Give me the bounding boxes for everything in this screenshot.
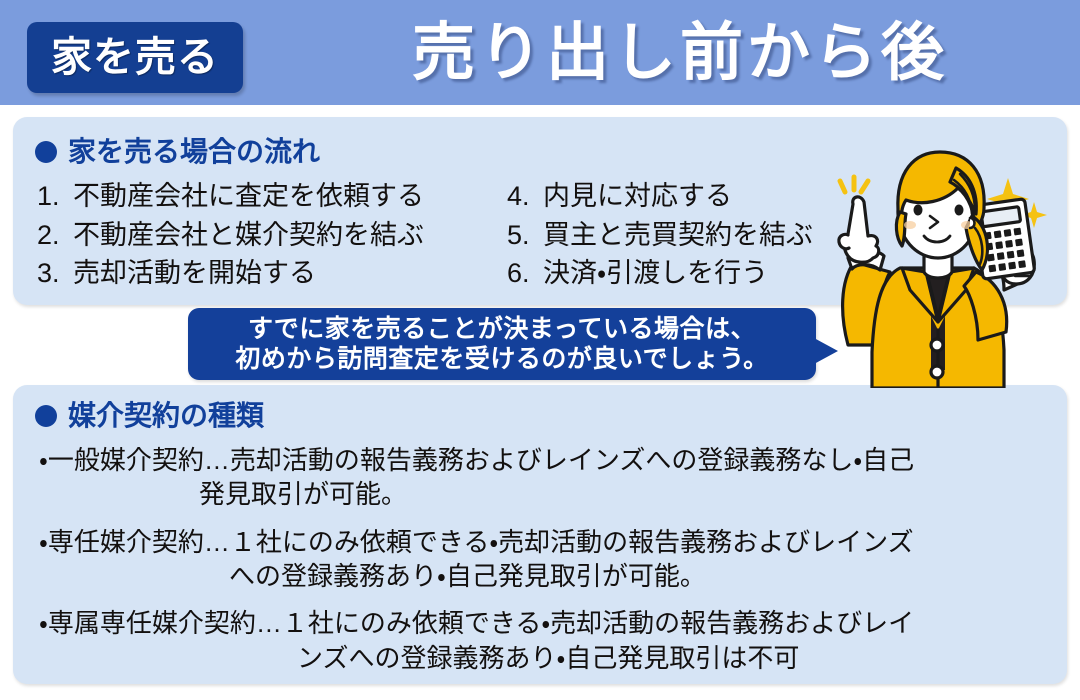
flow-step-6-number: 6. xyxy=(507,256,543,291)
bullet-dot-icon xyxy=(35,141,57,163)
contract-item-general: ・一般媒介契約…売却活動の報告義務およびレインズへの登録義務なし・自己 発見取引… xyxy=(39,443,1051,512)
contract-item-exclusive-right-line-1: １社にのみ依頼できる・売却活動の報告義務およびレイ xyxy=(282,608,914,638)
flow-steps-right-column: 4. 内見に対応する 5. 買主と売買契約を結ぶ 6. 決済・引渡しを行う xyxy=(507,179,837,291)
flow-step-3-label: 売却活動を開始する xyxy=(73,256,316,291)
category-badge: 家を売る xyxy=(27,22,243,93)
flow-steps-columns: 1. 不動産会社に査定を依頼する 2. 不動産会社と媒介契約を結ぶ 3. 売却活… xyxy=(37,179,837,291)
panel-flow-heading-label: 家を売る場合の流れ xyxy=(68,138,320,166)
contract-item-general-line-1: 売却活動の報告義務およびレインズへの登録義務なし・自己 xyxy=(230,445,914,475)
contract-item-exclusive: ・専任媒介契約…１社にのみ依頼できる・売却活動の報告義務およびレインズ への登録… xyxy=(39,525,1051,594)
page-title: 売り出し前から後 xyxy=(300,8,1060,98)
flow-step-4: 4. 内見に対応する xyxy=(507,179,837,214)
advice-callout-line-1: すでに家を売ることが決まっている場合は、 xyxy=(248,314,756,345)
flow-step-1-number: 1. xyxy=(37,179,73,214)
flow-step-2-number: 2. xyxy=(37,218,73,253)
contract-types-list: ・一般媒介契約…売却活動の報告義務およびレインズへの登録義務なし・自己 発見取引… xyxy=(39,443,1051,675)
panel-contract-types: 媒介契約の種類 ・一般媒介契約…売却活動の報告義務およびレインズへの登録義務なし… xyxy=(13,385,1067,684)
flow-steps-left-column: 1. 不動産会社に査定を依頼する 2. 不動産会社と媒介契約を結ぶ 3. 売却活… xyxy=(37,179,473,291)
flow-step-4-label: 内見に対応する xyxy=(543,179,732,214)
contract-item-exclusive-right-line-2: ンズへの登録義務あり・自己発見取引は不可 xyxy=(39,641,1051,675)
contract-item-exclusive-line-2: への登録義務あり・自己発見取引が可能。 xyxy=(39,559,1051,593)
bullet-dot-icon xyxy=(35,405,57,427)
contract-item-general-term: ・一般媒介契約… xyxy=(39,445,230,475)
panel-flow-heading: 家を売る場合の流れ xyxy=(35,138,320,166)
advice-callout-line-2: 初めから訪問査定を受けるのが良いでしょう。 xyxy=(235,344,768,375)
flow-step-5-number: 5. xyxy=(507,218,543,253)
panel-contract-heading: 媒介契約の種類 xyxy=(35,402,264,430)
contract-item-exclusive-term: ・専任媒介契約… xyxy=(39,527,230,557)
flow-step-5: 5. 買主と売買契約を結ぶ xyxy=(507,218,837,253)
advice-callout-tail xyxy=(814,338,838,364)
contract-item-exclusive-right: ・専属専任媒介契約…１社にのみ依頼できる・売却活動の報告義務およびレイ ンズへの… xyxy=(39,606,1051,675)
contract-item-exclusive-line-1: １社にのみ依頼できる・売却活動の報告義務およびレインズ xyxy=(230,527,914,557)
advice-callout: すでに家を売ることが決まっている場合は、 初めから訪問査定を受けるのが良いでしょ… xyxy=(188,308,816,380)
flow-step-3-number: 3. xyxy=(37,256,73,291)
flow-step-1: 1. 不動産会社に査定を依頼する xyxy=(37,179,473,214)
flow-step-1-label: 不動産会社に査定を依頼する xyxy=(73,179,424,214)
infographic-page: 家を売る 売り出し前から後 家を売る場合の流れ 1. 不動産会社に査定を依頼する… xyxy=(0,0,1080,700)
flow-step-2-label: 不動産会社と媒介契約を結ぶ xyxy=(73,218,424,253)
flow-step-5-label: 買主と売買契約を結ぶ xyxy=(543,218,813,253)
flow-step-6: 6. 決済・引渡しを行う xyxy=(507,256,837,291)
flow-step-6-label: 決済・引渡しを行う xyxy=(543,256,768,291)
category-badge-label: 家を売る xyxy=(51,37,219,78)
panel-contract-heading-label: 媒介契約の種類 xyxy=(68,402,264,430)
panel-selling-flow: 家を売る場合の流れ 1. 不動産会社に査定を依頼する 2. 不動産会社と媒介契約… xyxy=(13,117,1067,305)
contract-item-general-line-2: 発見取引が可能。 xyxy=(39,477,1051,511)
flow-step-2: 2. 不動産会社と媒介契約を結ぶ xyxy=(37,218,473,253)
flow-step-4-number: 4. xyxy=(507,179,543,214)
contract-item-exclusive-right-term: ・専属専任媒介契約… xyxy=(39,608,282,638)
flow-step-3: 3. 売却活動を開始する xyxy=(37,256,473,291)
